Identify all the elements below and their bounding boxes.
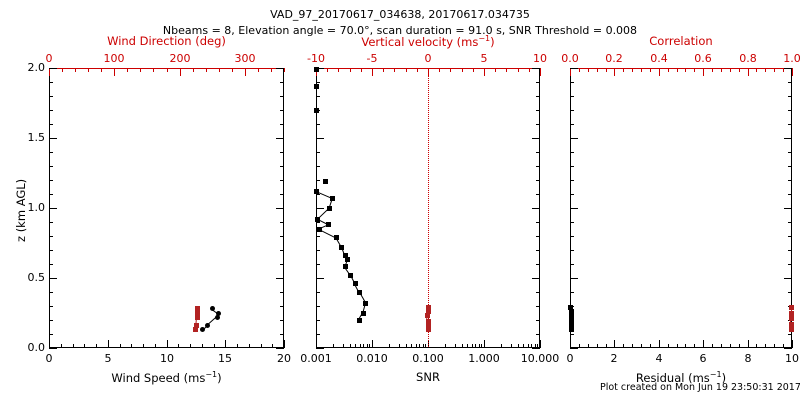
y-tick-minor [570,82,574,83]
y-tick-minor [788,96,792,97]
x-tick-minor [131,344,132,348]
y-tick-minor [316,96,320,97]
data-point [357,290,362,295]
top-x-tick-minor [748,68,749,72]
y-tick-minor [536,208,540,209]
y-tick-minor [788,264,792,265]
data-point [314,67,319,72]
data-point [343,264,348,269]
top-x-tick-label: -10 [290,52,342,65]
y-tick-minor [536,96,540,97]
x-tick-minor [406,344,407,348]
data-point [348,273,353,278]
top-x-tick-minor [614,68,615,72]
y-tick-label: 1.0 [19,201,45,214]
x-tick-minor [261,344,262,348]
top-x-tick-minor [417,68,418,72]
y-tick-minor [49,166,53,167]
top-x-tick-minor [75,68,76,72]
top-x-tick-minor [219,68,220,72]
y-tick-label: 1.5 [19,131,45,144]
x-tick-minor [419,344,420,348]
x-tick-minor [501,344,502,348]
x-tick-minor [756,344,757,348]
y-tick-minor [49,278,53,279]
y-tick-minor [49,138,53,139]
x-tick-minor [641,344,642,348]
y-tick-minor [536,320,540,321]
y-tick-minor [536,152,540,153]
y-tick-label: 0.5 [19,271,45,284]
y-tick-minor [49,68,53,69]
x-tick-minor [399,344,400,348]
y-tick-minor [788,334,792,335]
y-tick-minor [536,250,540,251]
x-tick-minor [249,344,250,348]
x-tick-minor [178,344,179,348]
y-tick-minor [280,166,284,167]
x-tick-minor [511,344,512,348]
top-x-tick-minor [721,68,722,72]
x-tick-minor [411,344,412,348]
y-tick-minor [49,124,53,125]
x-tick-minor [712,344,713,348]
top-x-tick-minor [350,68,351,72]
y-tick-label: 2.0 [19,61,45,74]
y-tick-minor [536,68,540,69]
x-tick-minor [472,344,473,348]
y-tick-minor [280,264,284,265]
y-tick-minor [536,82,540,83]
y-tick-minor [316,306,320,307]
top-x-tick-minor [114,68,115,72]
top-x-tick-minor [597,68,598,72]
y-tick-minor [280,138,284,139]
top-axis-title: Vertical velocity (ms−1) [316,34,540,49]
x-axis-title: SNR [316,370,540,384]
x-tick-label: 0.001 [290,352,342,365]
y-tick-minor [536,334,540,335]
y-tick-minor [788,82,792,83]
x-tick-major [316,340,317,348]
data-point [195,315,200,320]
top-x-tick-minor [206,68,207,72]
y-tick-minor [280,180,284,181]
x-tick-minor [350,344,351,348]
x-tick-minor [96,344,97,348]
data-point [353,281,358,286]
y-tick-minor [316,138,320,139]
data-point [339,245,344,250]
x-tick-minor [721,344,722,348]
x-tick-minor [367,344,368,348]
x-tick-minor [225,344,226,348]
top-x-tick-minor [258,68,259,72]
x-tick-minor [333,344,334,348]
top-x-tick-minor [588,68,589,72]
top-x-tick-minor [506,68,507,72]
y-tick-minor [316,348,320,349]
top-x-tick-minor [180,68,181,72]
y-tick-minor [49,292,53,293]
top-x-tick-minor [739,68,740,72]
data-point [314,84,319,89]
x-tick-minor [606,344,607,348]
y-tick-minor [570,194,574,195]
x-tick-minor [445,344,446,348]
data-point [363,301,368,306]
y-tick-minor [788,138,792,139]
x-tick-minor [73,344,74,348]
top-x-tick-minor [703,68,704,72]
data-point [326,222,331,227]
y-tick-minor [788,250,792,251]
y-tick-minor [49,180,53,181]
y-tick-minor [570,222,574,223]
y-tick-minor [570,334,574,335]
y-tick-minor [570,250,574,251]
y-tick-minor [570,68,574,69]
x-tick-minor [467,344,468,348]
top-x-tick-minor [271,68,272,72]
top-x-tick-label: 1.0 [766,52,800,65]
top-x-tick-minor [606,68,607,72]
top-x-tick-minor [668,68,669,72]
y-tick-minor [280,236,284,237]
top-x-tick-minor [730,68,731,72]
y-tick-minor [570,292,574,293]
x-tick-minor [143,344,144,348]
y-tick-minor [536,138,540,139]
top-x-tick-label: 5 [458,52,510,65]
y-tick-minor [49,208,53,209]
y-tick-minor [316,208,320,209]
x-tick-minor [774,344,775,348]
x-tick-minor [416,344,417,348]
data-point [323,179,328,184]
data-point [314,189,319,194]
y-tick-minor [316,278,320,279]
x-tick-minor [632,344,633,348]
y-tick-minor [570,152,574,153]
top-x-tick-minor [659,68,660,72]
top-x-tick-label: -5 [346,52,398,65]
x-tick-minor [792,344,793,348]
y-tick-minor [570,208,574,209]
data-point [330,196,335,201]
x-tick-label: 15 [199,352,251,365]
data-point [789,316,794,321]
y-tick-minor [788,180,792,181]
y-tick-minor [570,166,574,167]
x-tick-minor [423,344,424,348]
y-tick-minor [49,306,53,307]
top-x-tick-minor [127,68,128,72]
top-x-tick-minor [518,68,519,72]
y-tick-minor [280,208,284,209]
x-tick-minor [61,344,62,348]
y-tick-minor [536,236,540,237]
top-x-tick-minor [232,68,233,72]
top-x-tick-minor [193,68,194,72]
x-tick-minor [475,344,476,348]
y-tick-minor [536,306,540,307]
y-tick-minor [316,320,320,321]
y-tick-minor [280,292,284,293]
x-tick-minor [190,344,191,348]
top-x-tick-minor [579,68,580,72]
y-tick-minor [49,250,53,251]
y-tick-minor [280,334,284,335]
y-tick-minor [536,348,540,349]
top-x-tick-minor [677,68,678,72]
x-tick-minor [272,344,273,348]
x-tick-minor [214,344,215,348]
y-tick-minor [536,110,540,111]
top-x-tick-minor [88,68,89,72]
y-tick-minor [536,194,540,195]
x-tick-minor [523,344,524,348]
x-tick-minor [518,344,519,348]
x-tick-minor [202,344,203,348]
y-tick-minor [536,222,540,223]
top-x-tick-minor [685,68,686,72]
y-tick-minor [570,110,574,111]
data-point [789,305,794,310]
y-tick-minor [49,264,53,265]
data-point [317,227,322,232]
top-x-tick-minor [529,68,530,72]
y-tick-minor [316,180,320,181]
data-point [569,327,574,332]
x-tick-minor [389,344,390,348]
y-tick-minor [49,348,53,349]
y-tick-minor [49,110,53,111]
y-tick-label: 0.0 [19,341,45,354]
top-x-tick-minor [101,68,102,72]
x-tick-minor [623,344,624,348]
y-tick-minor [49,334,53,335]
y-tick-minor [536,124,540,125]
y-tick-minor [536,278,540,279]
x-tick-minor [668,344,669,348]
top-x-tick-minor [495,68,496,72]
y-tick-minor [788,194,792,195]
y-tick-minor [570,124,574,125]
x-tick-label: 0.010 [346,352,398,365]
top-x-tick-minor [450,68,451,72]
y-tick-minor [280,320,284,321]
x-tick-minor [425,344,426,348]
data-point [327,206,332,211]
x-tick-minor [588,344,589,348]
y-tick-minor [570,96,574,97]
x-tick-minor [597,344,598,348]
y-tick-minor [49,194,53,195]
top-x-tick-minor [774,68,775,72]
y-tick-minor [316,166,320,167]
top-x-tick-minor [765,68,766,72]
top-x-tick-minor [623,68,624,72]
y-tick-minor [280,278,284,279]
y-tick-minor [316,334,320,335]
top-axis-title: Wind Direction (deg) [49,34,284,48]
top-x-tick-minor [439,68,440,72]
x-tick-minor [120,344,121,348]
data-point [425,313,430,318]
y-tick-minor [280,348,284,349]
x-tick-minor [84,344,85,348]
x-tick-label: 10 [766,352,800,365]
x-tick-minor [659,344,660,348]
y-tick-minor [570,264,574,265]
data-point [789,311,794,316]
top-x-tick-label: 300 [219,52,271,65]
y-tick-minor [280,96,284,97]
y-tick-minor [316,222,320,223]
top-x-tick-minor [540,68,541,72]
y-tick-minor [536,264,540,265]
x-tick-label: 1.000 [458,352,510,365]
x-tick-minor [481,344,482,348]
y-tick-minor [49,320,53,321]
top-x-tick-minor [632,68,633,72]
y-tick-minor [280,222,284,223]
x-tick-major [372,340,373,348]
top-x-tick-minor [62,68,63,72]
top-x-tick-minor [406,68,407,72]
top-x-tick-minor [361,68,362,72]
x-tick-minor [167,344,168,348]
x-tick-minor [363,344,364,348]
x-tick-minor [455,344,456,348]
y-tick-minor [788,278,792,279]
top-x-tick-minor [394,68,395,72]
top-x-tick-label: 200 [154,52,206,65]
data-point [426,327,431,332]
x-tick-minor [765,344,766,348]
y-tick-minor [570,180,574,181]
figure-title-line1: VAD_97_20170617_034638, 20170617.034735 [0,8,800,21]
top-x-tick-minor [473,68,474,72]
x-tick-minor [369,344,370,348]
x-tick-minor [237,344,238,348]
x-tick-minor [614,344,615,348]
x-tick-label: 5 [82,352,134,365]
top-x-tick-minor [140,68,141,72]
x-tick-minor [343,344,344,348]
y-tick-minor [536,180,540,181]
top-x-tick-label: 0 [402,52,454,65]
y-tick-minor [316,194,320,195]
y-tick-minor [280,110,284,111]
top-x-tick-minor [462,68,463,72]
x-tick-minor [284,344,285,348]
x-tick-minor [355,344,356,348]
y-tick-minor [788,348,792,349]
y-tick-minor [280,250,284,251]
top-x-tick-minor [167,68,168,72]
x-tick-minor [479,344,480,348]
y-tick-minor [788,68,792,69]
x-tick-minor [685,344,686,348]
data-point [345,257,350,262]
y-tick-minor [570,348,574,349]
x-tick-major [540,340,541,348]
vad-plot-figure: VAD_97_20170617_034638, 20170617.034735 … [0,0,800,400]
top-x-tick-minor [756,68,757,72]
top-x-tick-minor [327,68,328,72]
data-point [215,315,220,320]
y-tick-minor [788,110,792,111]
plot-credit-text: Plot created on Mon Jun 19 23:50:31 2017 [600,382,800,393]
top-axis-title: Correlation [570,34,792,48]
x-tick-label: 0.100 [402,352,454,365]
x-tick-minor [462,344,463,348]
y-tick-minor [280,68,284,69]
x-tick-minor [730,344,731,348]
y-tick-minor [788,152,792,153]
plot-area-right [570,68,792,348]
y-tick-minor [280,124,284,125]
y-tick-minor [49,96,53,97]
y-tick-minor [49,236,53,237]
y-tick-minor [316,124,320,125]
y-tick-minor [280,82,284,83]
y-tick-minor [49,82,53,83]
data-point [789,322,794,327]
top-x-tick-minor [153,68,154,72]
y-tick-minor [280,194,284,195]
y-tick-minor [49,222,53,223]
y-tick-minor [788,166,792,167]
top-x-tick-minor [641,68,642,72]
x-tick-minor [650,344,651,348]
top-x-tick-minor [484,68,485,72]
y-tick-minor [536,166,540,167]
top-x-tick-minor [792,68,793,72]
x-tick-minor [155,344,156,348]
x-axis-title: Wind Speed (ms−1) [49,370,284,385]
y-tick-minor [570,278,574,279]
x-tick-minor [528,344,529,348]
y-tick-minor [788,292,792,293]
data-point [357,318,362,323]
top-x-tick-minor [383,68,384,72]
x-tick-minor [108,344,109,348]
x-tick-label: 10 [141,352,193,365]
top-x-tick-minor [284,68,285,72]
y-tick-minor [788,222,792,223]
plot-area-left [49,68,284,348]
x-tick-minor [703,344,704,348]
y-tick-minor [788,124,792,125]
data-point [334,235,339,240]
y-tick-minor [788,208,792,209]
top-x-tick-minor [694,68,695,72]
top-x-tick-label: 100 [88,52,140,65]
y-tick-minor [280,152,284,153]
y-tick-minor [570,236,574,237]
x-tick-minor [360,344,361,348]
y-tick-minor [316,236,320,237]
y-tick-minor [570,138,574,139]
y-tick-minor [316,250,320,251]
top-x-tick-minor [338,68,339,72]
data-point [314,108,319,113]
data-point [193,327,198,332]
x-tick-minor [694,344,695,348]
